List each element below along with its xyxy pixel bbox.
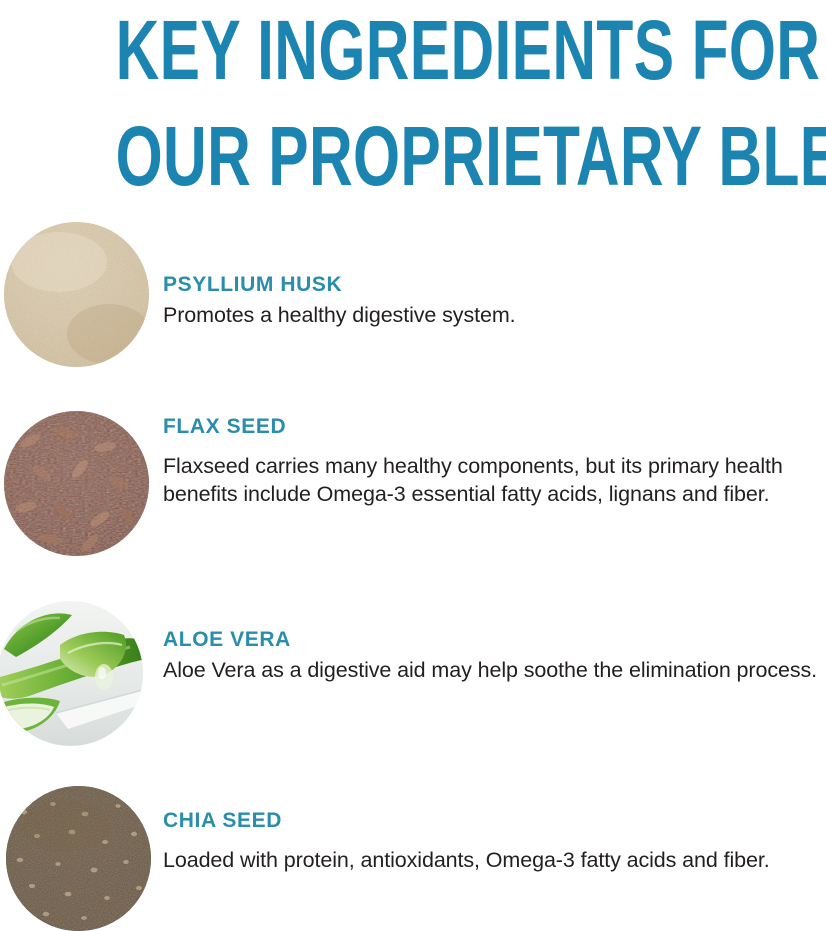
ingredient-description-flax-seed: Flaxseed carries many healthy components… xyxy=(163,452,824,509)
aloe-vera-text: ALOE VERA Aloe Vera as a digestive aid m… xyxy=(163,628,824,684)
page-title: KEY INGREDIENTS FOR OUR PROPRIETARY BLEN… xyxy=(0,0,826,198)
psyllium-husk-image xyxy=(4,222,149,367)
ingredient-description-chia-seed: Loaded with protein, antioxidants, Omega… xyxy=(163,846,824,874)
ingredient-description-psyllium-husk: Promotes a healthy digestive system. xyxy=(163,301,824,329)
flax-seed-image xyxy=(4,411,149,556)
page-title-line-1: KEY INGREDIENTS FOR xyxy=(116,8,711,92)
psyllium-husk-text: PSYLLIUM HUSK Promotes a healthy digesti… xyxy=(163,273,824,329)
chia-seed-text: CHIA SEED Loaded with protein, antioxida… xyxy=(163,809,824,874)
ingredient-description-aloe-vera: Aloe Vera as a digestive aid may help so… xyxy=(163,656,824,684)
ingredient-name-psyllium-husk: PSYLLIUM HUSK xyxy=(163,273,824,296)
chia-seed-image xyxy=(6,786,151,931)
ingredient-name-chia-seed: CHIA SEED xyxy=(163,809,824,832)
ingredient-name-flax-seed: FLAX SEED xyxy=(163,415,824,438)
page-title-line-2: OUR PROPRIETARY BLEND xyxy=(116,114,711,198)
flax-seed-text: FLAX SEED Flaxseed carries many healthy … xyxy=(163,415,824,509)
aloe-vera-image xyxy=(0,601,143,746)
ingredient-name-aloe-vera: ALOE VERA xyxy=(163,628,824,651)
